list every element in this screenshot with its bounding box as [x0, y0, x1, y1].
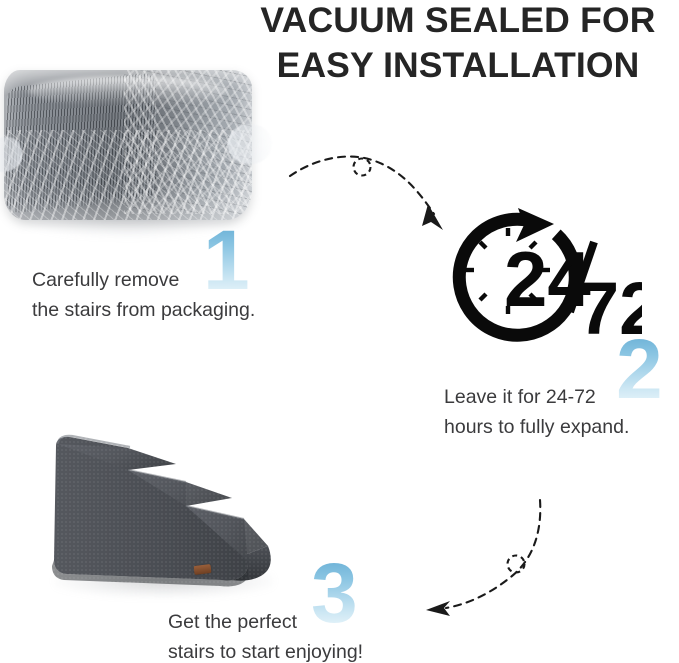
step-3-caption: Get the perfect stairs to start enjoying…	[168, 607, 363, 663]
dashed-arrow-step2-to-step3	[424, 496, 602, 626]
package-gloss-highlight	[28, 76, 228, 106]
step-1-caption-line-2: the stairs from packaging.	[32, 295, 255, 325]
step-1-caption-line-1: Carefully remove	[32, 265, 255, 295]
step-3-caption-line-2: stairs to start enjoying!	[168, 637, 363, 663]
step-3-caption-line-1: Get the perfect	[168, 607, 363, 637]
title-line-1: VACUUM SEALED FOR	[240, 0, 676, 43]
step-2-caption-line-2: hours to fully expand.	[444, 412, 629, 442]
package-plastic-crinkle-front	[4, 130, 252, 220]
clock-24-72-icon: 24 72	[442, 204, 642, 346]
dashed-arrow-step1-to-step2	[288, 148, 456, 234]
step-2-caption-line-1: Leave it for 24-72	[444, 382, 629, 412]
page-title: VACUUM SEALED FOR EASY INSTALLATION	[240, 0, 676, 88]
pet-stairs-product-photo	[36, 424, 286, 602]
package-body	[4, 70, 252, 220]
step-1-caption: Carefully remove the stairs from packagi…	[32, 265, 255, 325]
title-line-2: EASY INSTALLATION	[240, 43, 676, 88]
infographic-page: VACUUM SEALED FOR EASY INSTALLATION 1 Ca…	[0, 0, 679, 663]
step-2-caption: Leave it for 24-72 hours to fully expand…	[444, 382, 629, 442]
